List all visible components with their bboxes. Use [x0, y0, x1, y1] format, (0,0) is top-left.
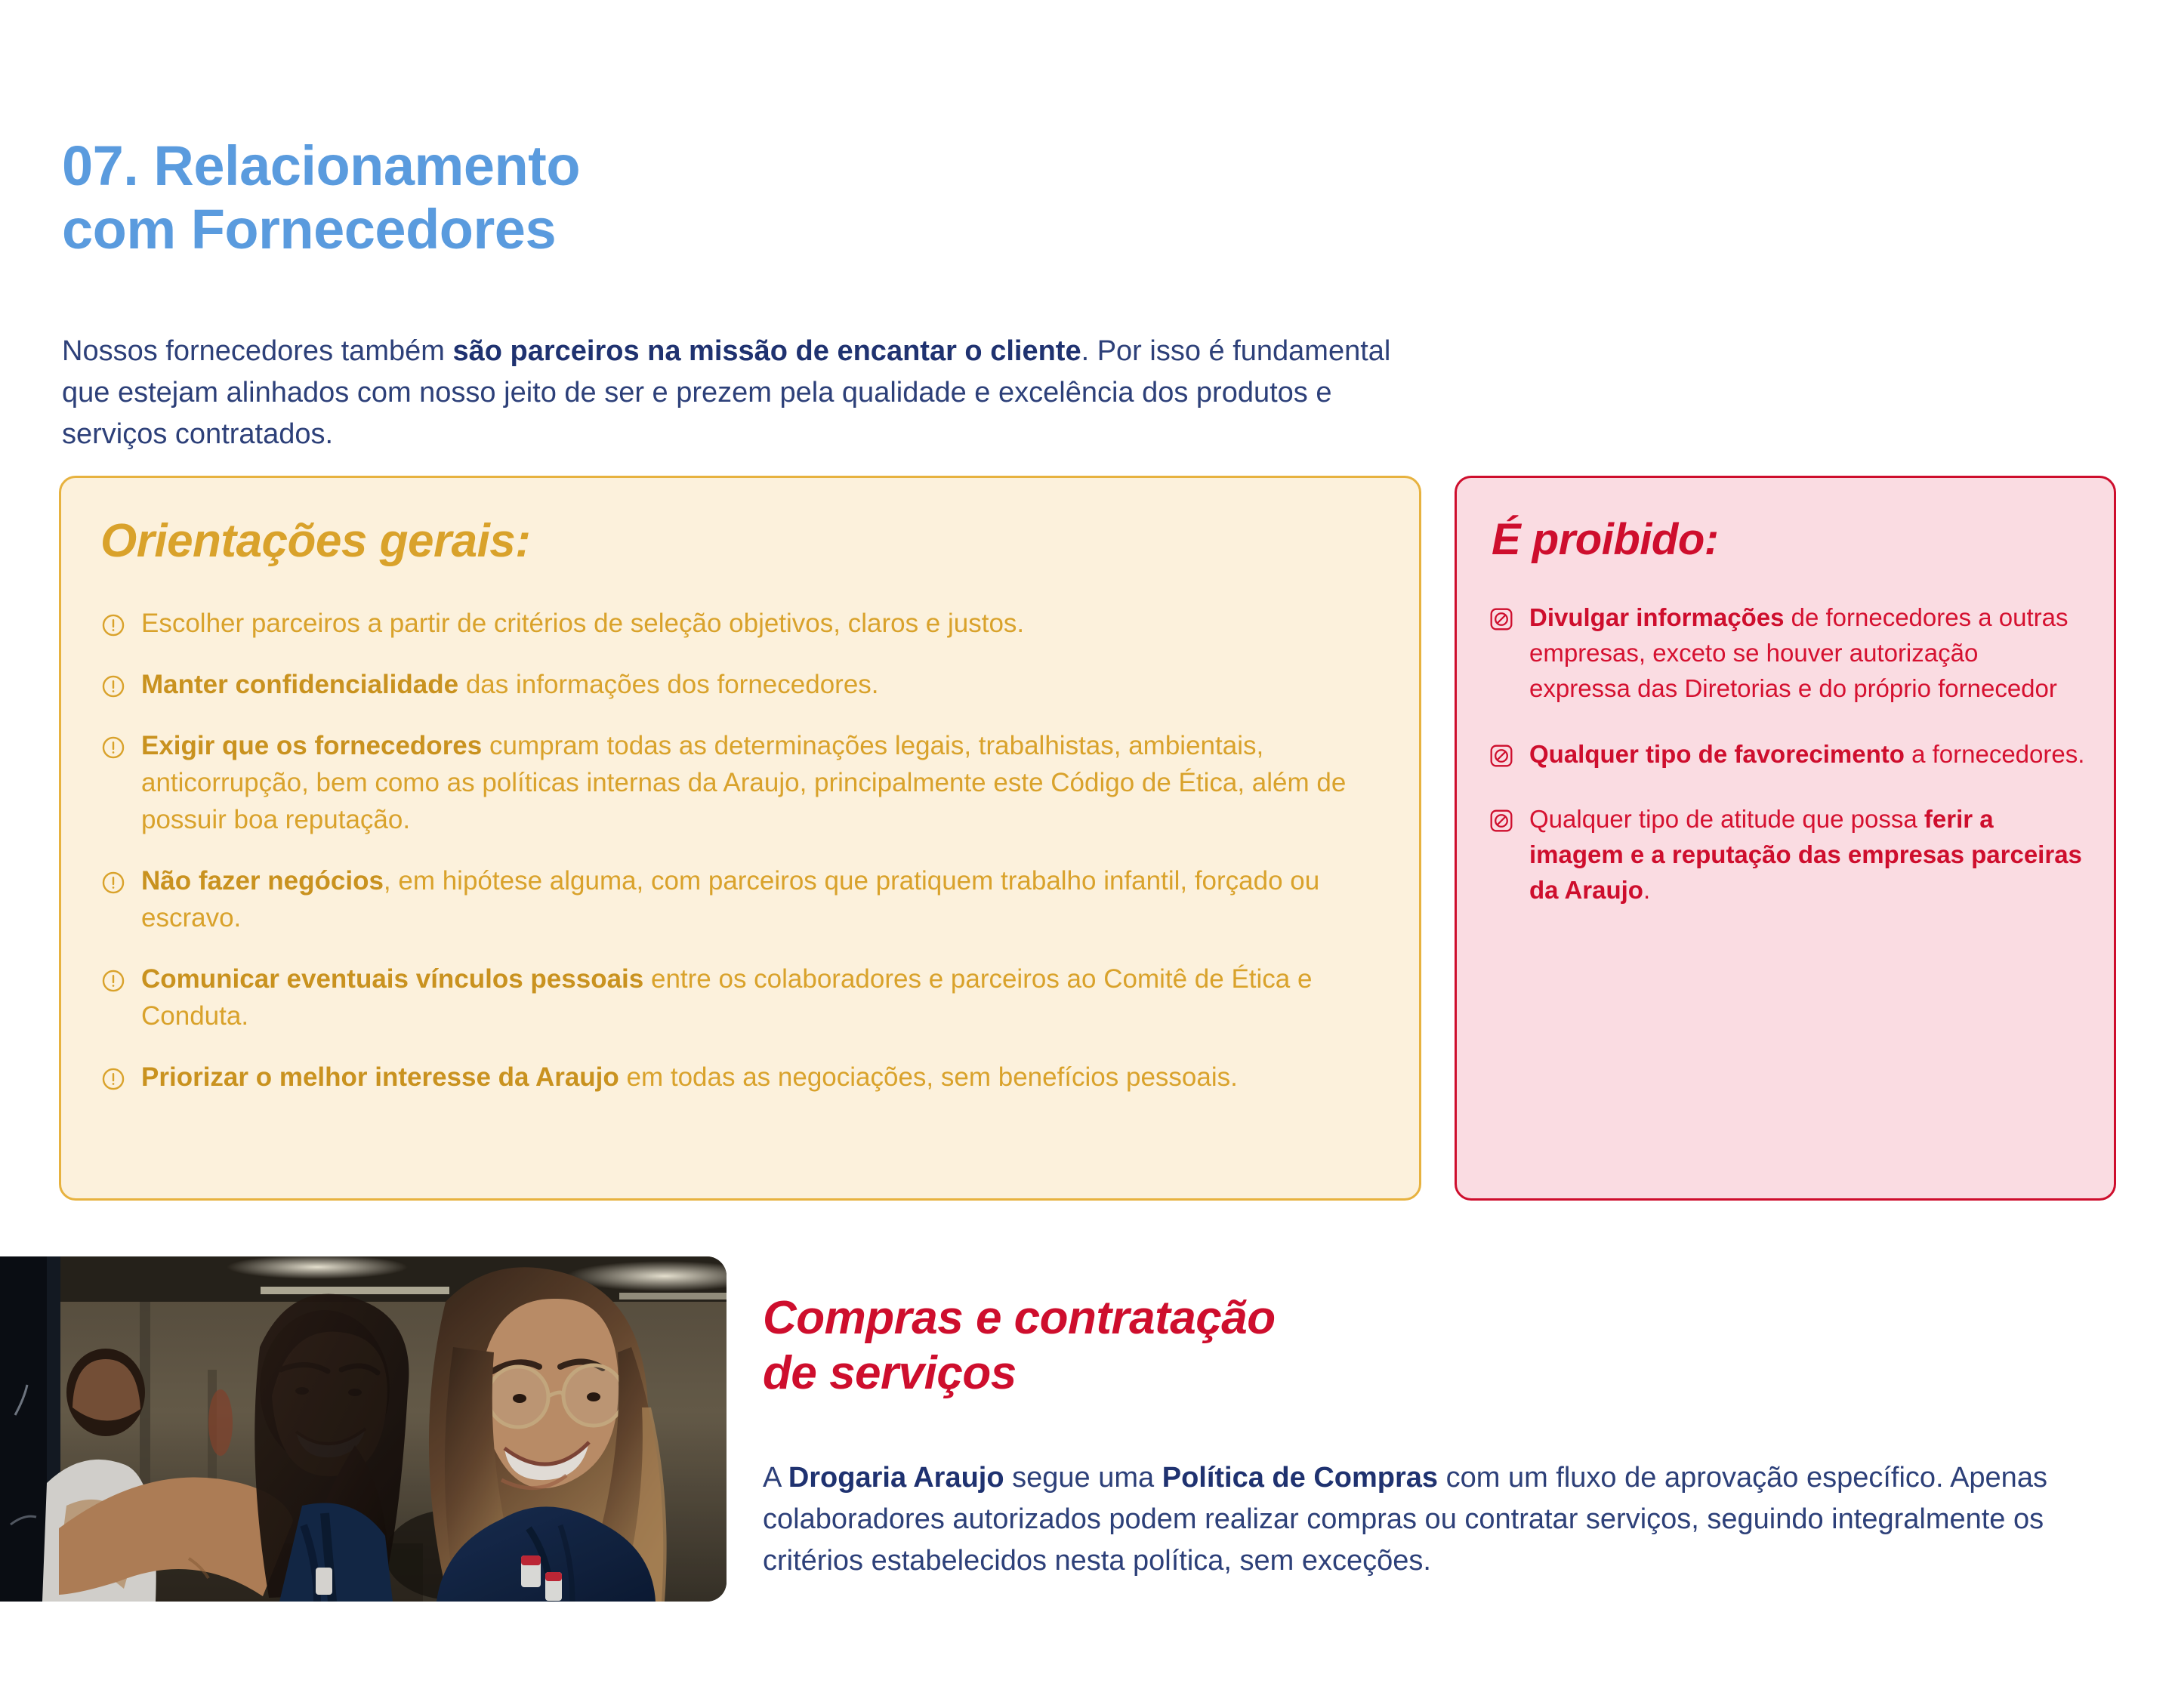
page-title: 07. Relacionamento com Fornecedores — [62, 134, 1044, 261]
page-title-line-2: com Fornecedores — [62, 198, 1044, 261]
alert-circle-icon — [100, 868, 126, 894]
list-item-bold: Comunicar eventuais vínculos pessoais — [141, 964, 643, 994]
list-item-bold-lead: Divulgar informações — [1529, 603, 1784, 631]
list-item: Priorizar o melhor interesse da Araujo e… — [100, 1059, 1384, 1096]
prohibition-icon — [1489, 606, 1514, 632]
intro-paragraph: Nossos fornecedores também são parceiros… — [62, 331, 1414, 455]
list-item-text: Divulgar informações de fornecedores a o… — [1529, 600, 2085, 707]
list-item-bold: Exigir que os fornecedores — [141, 731, 482, 760]
guidelines-list: Escolher parceiros a partir de critérios… — [100, 605, 1384, 1120]
list-item-text: Comunicar eventuais vínculos pessoais en… — [141, 960, 1384, 1034]
prohibition-icon — [1489, 743, 1514, 769]
page-title-line-1: 07. Relacionamento — [62, 134, 1044, 198]
team-photo — [0, 1256, 727, 1602]
alert-circle-icon — [100, 1065, 126, 1090]
prohibited-list: Divulgar informações de fornecedores a o… — [1489, 600, 2085, 939]
list-item-bold: Manter confidencialidade — [141, 670, 458, 699]
guidelines-box-title: Orientações gerais: — [100, 514, 530, 568]
bottom-paragraph: A Drogaria Araujo segue uma Política de … — [763, 1457, 2145, 1582]
list-item-text: Qualquer tipo de atitude que possa ferir… — [1529, 802, 2085, 908]
list-item-text: Escolher parceiros a partir de critérios… — [141, 605, 1384, 642]
alert-circle-icon — [100, 611, 126, 637]
list-item-bold: Priorizar o melhor interesse da Araujo — [141, 1062, 619, 1092]
bottom-par-part-2: segue uma — [1004, 1462, 1162, 1494]
alert-circle-icon — [100, 672, 126, 698]
list-item: Escolher parceiros a partir de critérios… — [100, 605, 1384, 642]
alert-circle-icon — [100, 733, 126, 759]
alert-circle-icon — [100, 967, 126, 992]
list-item: Qualquer tipo de atitude que possa ferir… — [1489, 802, 2085, 908]
list-item-body: em todas as negociações, sem benefícios … — [619, 1062, 1238, 1092]
intro-text-before: Nossos fornecedores também — [62, 335, 452, 367]
team-photo-illustration — [0, 1256, 727, 1602]
list-item: Divulgar informações de fornecedores a o… — [1489, 600, 2085, 707]
prohibited-callout-box: É proibido: Divulgar informações de forn… — [1455, 476, 2116, 1201]
guidelines-callout-box: Orientações gerais: Escolher parceiros a… — [59, 476, 1421, 1201]
list-item: Manter confidencialidade das informações… — [100, 666, 1384, 703]
prohibition-icon — [1489, 808, 1514, 834]
bottom-par-part-1: A — [763, 1462, 788, 1494]
list-item-bold-lead: Qualquer tipo de favorecimento — [1529, 740, 1905, 768]
bottom-title-line-1: Compras e contratação — [763, 1291, 1518, 1346]
prohibited-box-title: É proibido: — [1492, 514, 1719, 565]
list-item-text: Qualquer tipo de favorecimento a fornece… — [1529, 737, 2085, 772]
document-page: 07. Relacionamento com Fornecedores Noss… — [0, 0, 2175, 1708]
list-item-text: Não fazer negócios, em hipótese alguma, … — [141, 862, 1384, 936]
list-item: Comunicar eventuais vínculos pessoais en… — [100, 960, 1384, 1034]
intro-text-bold: são parceiros na missão de encantar o cl… — [452, 335, 1081, 367]
list-item-body: Qualquer tipo de atitude que possa — [1529, 805, 1924, 833]
list-item-tail-after: . — [1643, 876, 1650, 904]
list-item-body: a fornecedores. — [1905, 740, 2084, 768]
list-item-bold: Não fazer negócios — [141, 866, 384, 896]
list-item-text: Manter confidencialidade das informações… — [141, 666, 1384, 703]
list-item: Não fazer negócios, em hipótese alguma, … — [100, 862, 1384, 936]
bottom-par-bold-1: Drogaria Araujo — [788, 1462, 1004, 1494]
bottom-section-title: Compras e contratação de serviços — [763, 1291, 1518, 1401]
bottom-par-bold-2: Política de Compras — [1162, 1462, 1438, 1494]
list-item-text: Priorizar o melhor interesse da Araujo e… — [141, 1059, 1384, 1096]
list-item-body: das informações dos fornecedores. — [458, 670, 878, 699]
list-item: Exigir que os fornecedores cumpram todas… — [100, 727, 1384, 838]
list-item: Qualquer tipo de favorecimento a fornece… — [1489, 737, 2085, 772]
list-item-body: Escolher parceiros a partir de critérios… — [141, 609, 1024, 638]
bottom-title-line-2: de serviços — [763, 1346, 1518, 1401]
list-item-text: Exigir que os fornecedores cumpram todas… — [141, 727, 1384, 838]
